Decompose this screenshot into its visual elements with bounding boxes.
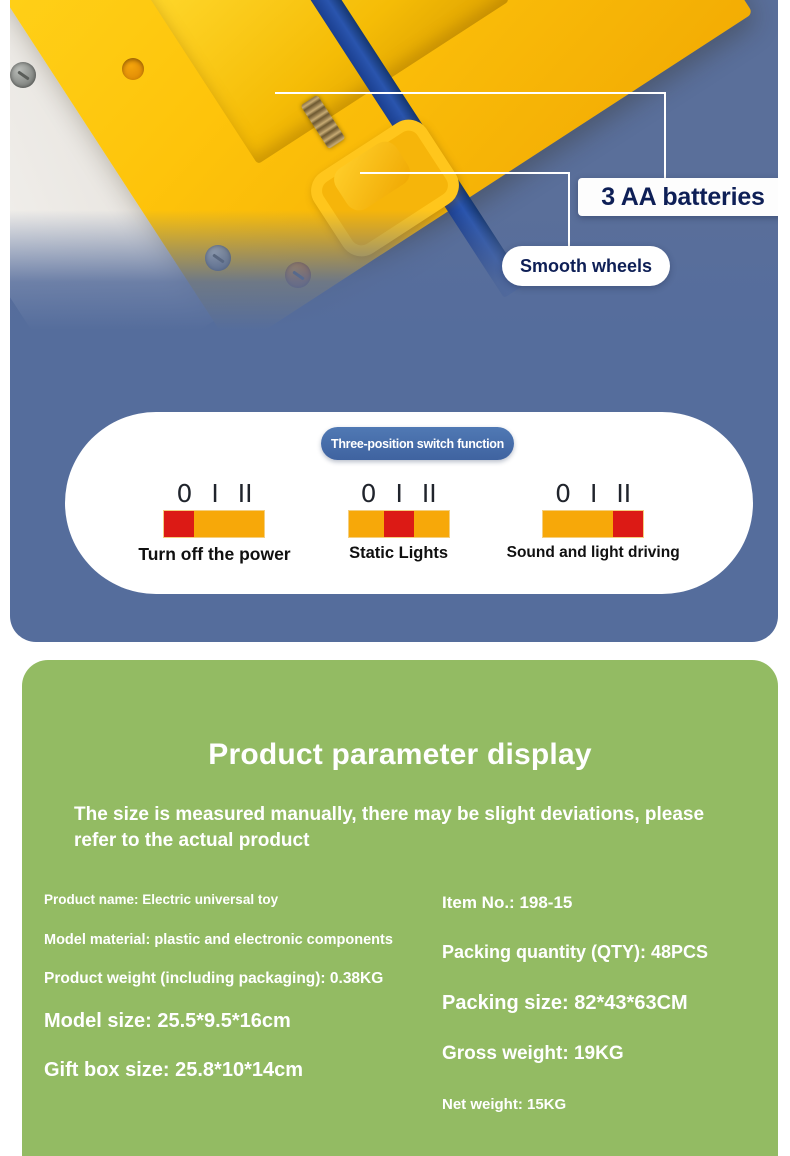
switch-mark-1: I (590, 481, 597, 506)
switch-mark-0: 0 (176, 481, 192, 506)
switch-position-static-lights: 0 I II Static Lights (349, 478, 449, 565)
callout-3-aa-batteries: 3 AA batteries (578, 178, 778, 216)
callout-smooth-wheels: Smooth wheels (502, 246, 670, 286)
switch-position-off: 0 I II Turn off the power (138, 478, 290, 565)
switch-slider (164, 511, 194, 537)
product-photo-panel: 3 AA batteries Smooth wheels Three-posit… (10, 0, 778, 642)
switch-mark-2: II (616, 481, 631, 506)
switch-bar (349, 511, 449, 537)
switch-marks: 0 I II (361, 478, 437, 506)
spec-model-material: Model material: plastic and electronic c… (44, 931, 444, 949)
screw-icon (10, 62, 36, 88)
spec-product-weight: Product weight (including packaging): 0.… (44, 969, 444, 988)
switch-slider (384, 511, 414, 537)
spec-net-weight: Net weight: 15KG (442, 1096, 772, 1115)
switch-mark-0: 0 (555, 481, 571, 506)
switch-function-badge: Three-position switch function (321, 427, 514, 460)
switch-label-static-lights: Static Lights (349, 544, 448, 563)
switch-bar-track (349, 511, 384, 537)
specification-grid: Product name: Electric universal toy Mod… (22, 892, 778, 1142)
switch-slider (613, 511, 643, 537)
page-title: Product parameter display (22, 738, 778, 772)
switch-bar (543, 511, 643, 537)
product-parameter-panel: Product parameter display The size is me… (22, 660, 778, 1156)
switch-bar (164, 511, 264, 537)
measurement-disclaimer: The size is measured manually, there may… (74, 802, 744, 853)
leader-line-batteries-horizontal (275, 92, 665, 94)
specification-column-right: Item No.: 198-15 Packing quantity (QTY):… (442, 892, 772, 1114)
spec-gift-box-size: Gift box size: 25.8*10*14cm (44, 1058, 444, 1083)
leader-line-batteries-vertical (664, 92, 666, 180)
switch-bar-track (414, 511, 449, 537)
specification-column-left: Product name: Electric universal toy Mod… (44, 892, 444, 1083)
spec-item-no: Item No.: 198-15 (442, 892, 772, 913)
switch-marks: 0 I II (555, 478, 631, 506)
switch-mark-2: II (238, 481, 253, 506)
switch-mark-2: II (422, 481, 437, 506)
vent-hole-icon (122, 58, 144, 80)
switch-bar-track (543, 511, 613, 537)
switch-mark-1: I (211, 481, 218, 506)
spec-product-name: Product name: Electric universal toy (44, 892, 444, 909)
switch-position-sound-and-light: 0 I II Sound and light driving (507, 478, 680, 565)
spec-packing-quantity: Packing quantity (QTY): 48PCS (442, 941, 772, 964)
leader-line-wheels-horizontal (360, 172, 570, 174)
switch-bar-track (194, 511, 264, 537)
spec-packing-size: Packing size: 82*43*63CM (442, 991, 772, 1016)
switch-positions-row: 0 I II Turn off the power 0 I II Static … (65, 478, 753, 565)
switch-marks: 0 I II (176, 478, 252, 506)
spec-gross-weight: Gross weight: 19KG (442, 1042, 772, 1066)
switch-mark-0: 0 (361, 481, 377, 506)
switch-label-off: Turn off the power (138, 544, 290, 565)
spec-model-size: Model size: 25.5*9.5*16cm (44, 1009, 444, 1034)
switch-mark-1: I (396, 481, 403, 506)
leader-line-wheels-vertical (568, 172, 570, 248)
switch-label-sound-and-light: Sound and light driving (507, 544, 680, 562)
